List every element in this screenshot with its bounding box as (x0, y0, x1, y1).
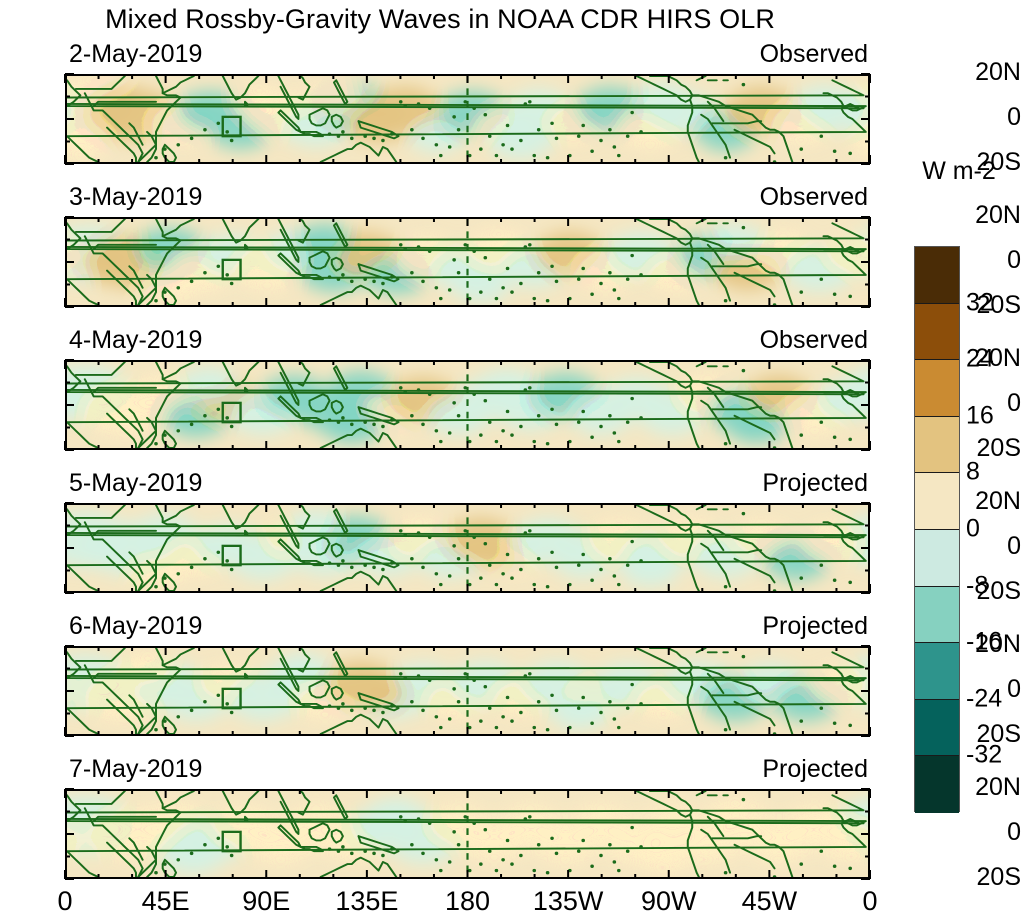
x-tick-label: 180 (445, 886, 490, 917)
y-tick-label: 20N (962, 58, 1021, 87)
y-tick-label: 20N (962, 344, 1021, 373)
panel-date-label: 2-May-2019 (69, 40, 202, 69)
y-tick-label: 20S (962, 291, 1021, 320)
colorbar-swatch (915, 304, 959, 361)
panel-status-label: Observed (760, 183, 868, 212)
y-tick-label: 0 (962, 246, 1021, 275)
x-tick-label: 135W (533, 886, 604, 917)
panel-ticks (61, 213, 874, 311)
colorbar-swatch (915, 530, 959, 587)
page-title: Mixed Rossby-Gravity Waves in NOAA CDR H… (0, 4, 880, 35)
x-tick-label: 90E (242, 886, 290, 917)
y-tick-label: 0 (962, 532, 1021, 561)
y-tick-label: 20N (962, 773, 1021, 802)
colorbar-swatch (915, 756, 959, 813)
y-tick-label: 0 (962, 389, 1021, 418)
y-tick-label: 20N (962, 201, 1021, 230)
panel-date-label: 4-May-2019 (69, 326, 202, 355)
colorbar-swatch (915, 473, 959, 530)
x-tick-label: 90W (641, 886, 697, 917)
map-panel-2: 3-May-2019Observed (65, 217, 870, 307)
panel-status-label: Projected (762, 755, 868, 784)
colorbar-swatch (915, 643, 959, 700)
map-panel-3: 4-May-2019Observed (65, 360, 870, 450)
x-tick-label: 135E (335, 886, 398, 917)
panel-date-label: 5-May-2019 (69, 469, 202, 498)
y-tick-label: 0 (962, 675, 1021, 704)
x-tick-label: 45E (142, 886, 190, 917)
y-tick-label: 20N (962, 487, 1021, 516)
map-panel-4: 5-May-2019Projected (65, 503, 870, 593)
figure-root: Mixed Rossby-Gravity Waves in NOAA CDR H… (0, 0, 1021, 923)
colorbar-swatch (915, 700, 959, 757)
colorbar-swatch (915, 417, 959, 474)
colorbar (914, 246, 960, 812)
colorbar-swatch (915, 247, 959, 304)
map-panel-5: 6-May-2019Projected (65, 646, 870, 736)
panel-ticks (61, 356, 874, 454)
y-tick-label: 20N (962, 630, 1021, 659)
panel-status-label: Projected (762, 612, 868, 641)
panel-date-label: 6-May-2019 (69, 612, 202, 641)
map-panel-1: 2-May-2019Observed (65, 74, 870, 164)
map-panel-6: 7-May-2019Projected (65, 789, 870, 879)
x-tick-label: 0 (862, 886, 877, 917)
y-tick-label: 20S (962, 863, 1021, 892)
y-tick-label: 0 (962, 818, 1021, 847)
panel-date-label: 7-May-2019 (69, 755, 202, 784)
panel-ticks (61, 785, 874, 883)
y-tick-label: 0 (962, 103, 1021, 132)
panel-ticks (61, 499, 874, 597)
x-tick-label: 45W (742, 886, 798, 917)
y-tick-label: 20S (962, 434, 1021, 463)
colorbar-swatch (915, 360, 959, 417)
panel-status-label: Observed (760, 40, 868, 69)
colorbar-swatch (915, 587, 959, 644)
panel-status-label: Observed (760, 326, 868, 355)
panel-ticks (61, 642, 874, 740)
panel-date-label: 3-May-2019 (69, 183, 202, 212)
x-tick-label: 0 (57, 886, 72, 917)
panel-status-label: Projected (762, 469, 868, 498)
panel-ticks (61, 70, 874, 168)
y-tick-label: 20S (962, 148, 1021, 177)
y-tick-label: 20S (962, 720, 1021, 749)
y-tick-label: 20S (962, 577, 1021, 606)
